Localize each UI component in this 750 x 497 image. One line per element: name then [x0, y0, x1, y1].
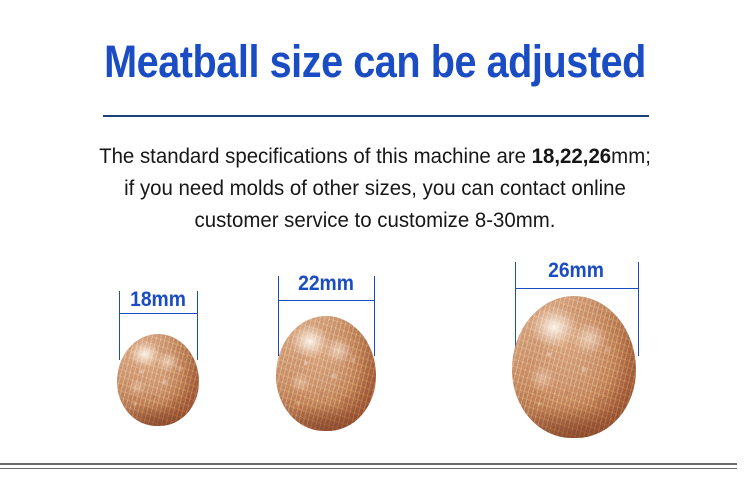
- meatball-sample-26mm: [512, 296, 636, 438]
- description-line-3: customer service to customize 8-30mm.: [62, 204, 689, 236]
- dimension-label-26mm: 26mm: [519, 259, 633, 283]
- footer-rule-top: [0, 463, 737, 465]
- meatball-sample-18mm: [117, 334, 199, 426]
- page-title: Meatball size can be adjusted: [45, 36, 705, 88]
- dimension-tick-right-18mm: [197, 291, 198, 360]
- footer-rule-bottom: [0, 468, 737, 469]
- dimension-tick-left-22mm: [278, 276, 279, 356]
- dimension-tick-right-22mm: [374, 276, 375, 356]
- promo-banner: Meatball size can be adjusted The standa…: [0, 0, 750, 497]
- description-text: The standard specifications of this mach…: [62, 140, 689, 236]
- dimension-label-18mm: 18mm: [121, 288, 195, 312]
- dimension-line-horizontal-22mm: [278, 300, 375, 301]
- description-line-1-prefix: The standard specifications of this mach…: [99, 144, 532, 168]
- meatball-sample-22mm: [276, 316, 376, 431]
- dimension-tick-right-26mm: [638, 262, 639, 356]
- description-sizes-bold: 18,22,26: [532, 144, 612, 168]
- title-divider: [103, 115, 649, 117]
- description-line-1-suffix: mm;: [611, 144, 651, 168]
- description-line-1: The standard specifications of this mach…: [62, 140, 689, 172]
- dimension-label-22mm: 22mm: [281, 272, 371, 296]
- dimension-line-horizontal-18mm: [119, 313, 198, 314]
- dimension-tick-left-18mm: [119, 291, 120, 360]
- dimension-line-horizontal-26mm: [515, 288, 638, 289]
- description-line-2: if you need molds of other sizes, you ca…: [62, 172, 689, 204]
- dimension-tick-left-26mm: [515, 262, 516, 356]
